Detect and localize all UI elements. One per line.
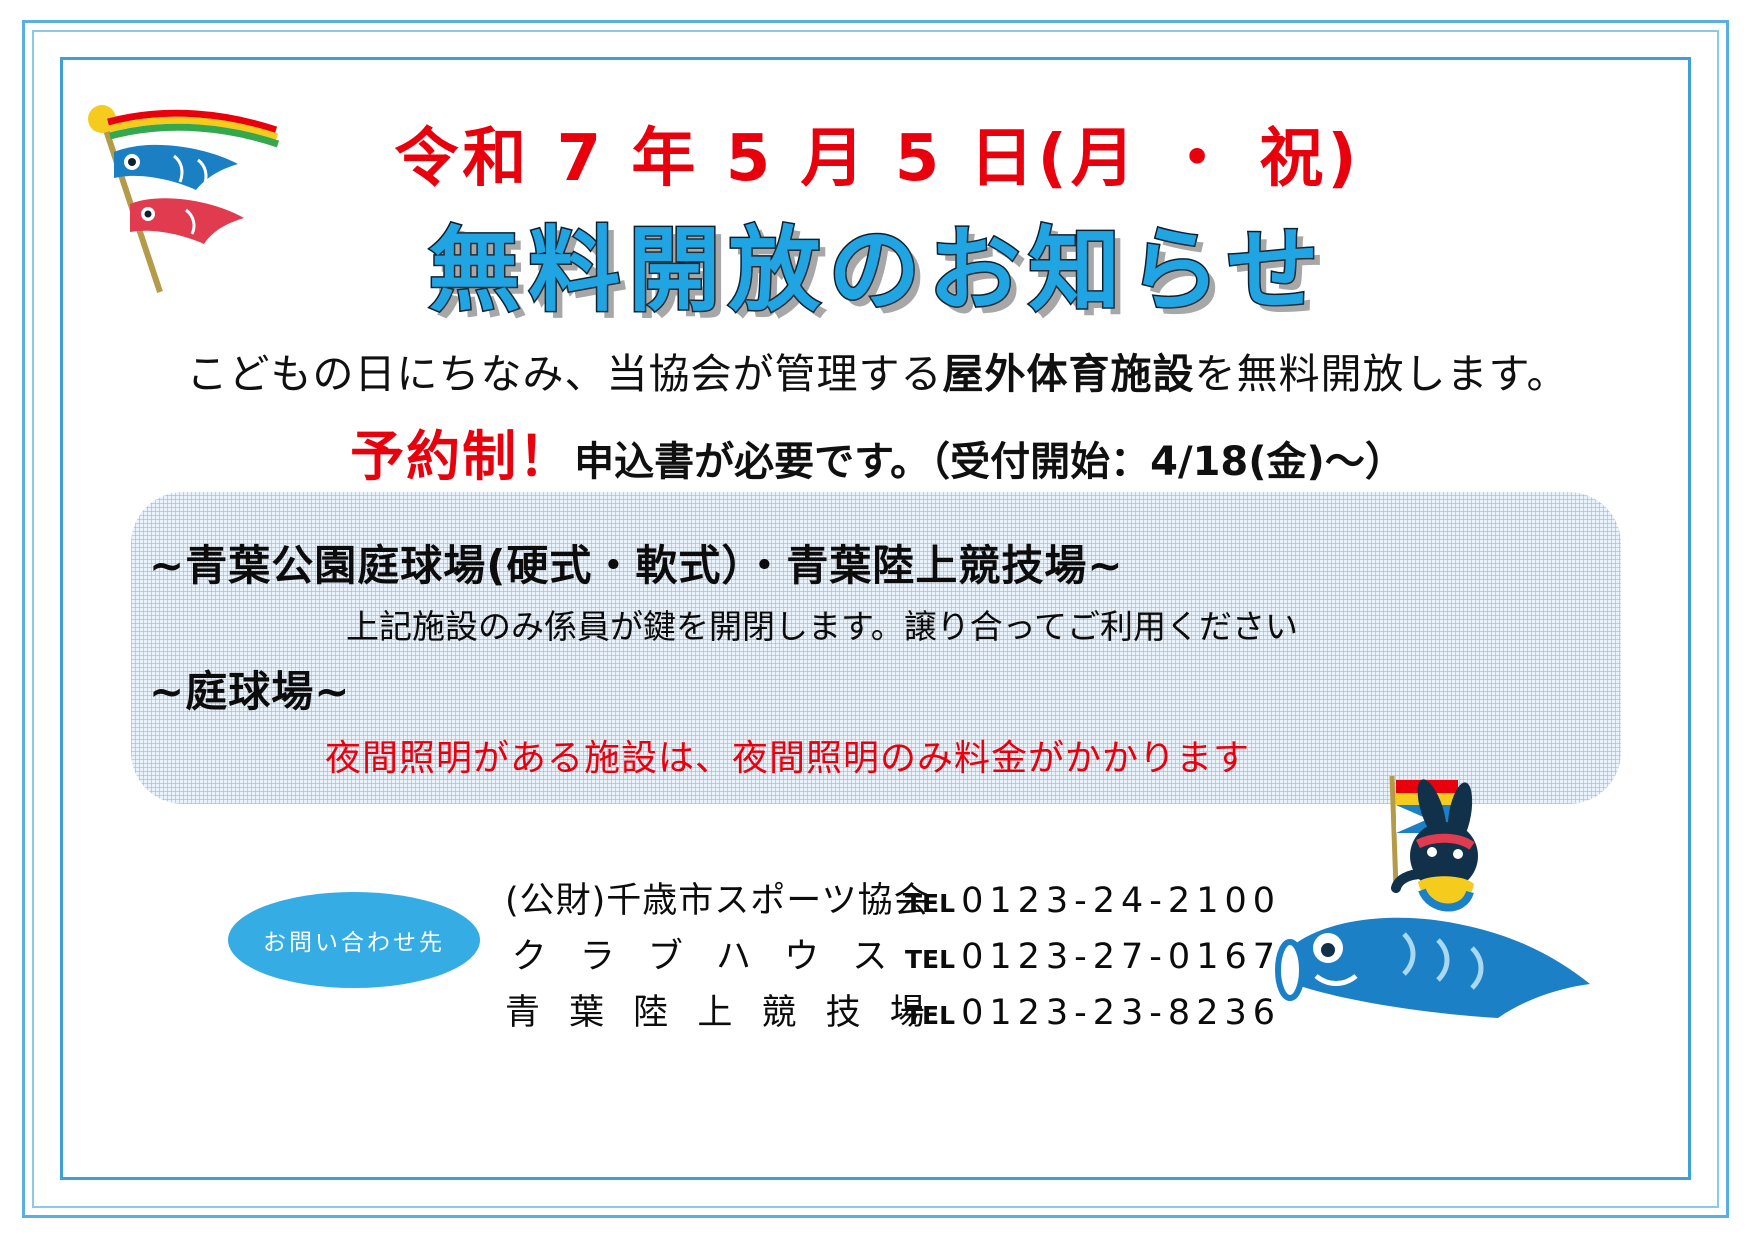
tel-icon: TEL bbox=[905, 889, 955, 918]
contact-phone-number: 0123-24-2100 bbox=[961, 881, 1281, 921]
contact-phone-number: 0123-27-0167 bbox=[961, 937, 1281, 977]
reservation-label: 予約制！ bbox=[350, 425, 574, 488]
intro-text: こどもの日にちなみ、当協会が管理する屋外体育施設を無料開放します。 bbox=[0, 340, 1755, 400]
contact-name: ク ラ ブ ハ ウ ス bbox=[505, 928, 905, 979]
tennis-court-heading: ~庭球場~ bbox=[149, 658, 350, 719]
contact-phone: TEL0123-24-2100 bbox=[905, 881, 1281, 921]
reservation-notice: 予約制！申込書が必要です。（受付開始：4/18(金)〜） bbox=[0, 412, 1755, 491]
inquiry-badge: お問い合わせ先 bbox=[228, 892, 480, 988]
page-title: 無料開放のお知らせ bbox=[0, 196, 1755, 329]
facility-note-line: 上記施設のみ係員が鍵を開閉します。譲り合ってご利用ください bbox=[346, 600, 1298, 648]
contact-row: ク ラ ブ ハ ウ ス TEL0123-27-0167 bbox=[505, 928, 1305, 984]
night-lighting-warning: 夜間照明がある施設は、夜間照明のみ料金がかかります bbox=[325, 729, 1250, 781]
facility-info-box: ~青葉公園庭球場(硬式・軟式）・青葉陸上競技場~ 上記施設のみ係員が鍵を開閉しま… bbox=[131, 492, 1621, 804]
inquiry-badge-label: お問い合わせ先 bbox=[263, 923, 445, 957]
contact-phone-number: 0123-23-8236 bbox=[961, 993, 1281, 1033]
poster-page: 令和 7 年 5 月 5 日(月 ・ 祝) 無料開放のお知らせ こどもの日にちな… bbox=[0, 0, 1755, 1241]
facility-list-line: ~青葉公園庭球場(硬式・軟式）・青葉陸上競技場~ bbox=[149, 532, 1124, 593]
contact-row: 青 葉 陸 上 競 技 場 TEL0123-23-8236 bbox=[505, 984, 1305, 1040]
intro-suffix: を無料開放します。 bbox=[1195, 350, 1569, 398]
koinobori-rabbit-icon bbox=[1272, 770, 1612, 1060]
contact-phone: TEL0123-27-0167 bbox=[905, 937, 1281, 977]
event-date: 令和 7 年 5 月 5 日(月 ・ 祝) bbox=[0, 107, 1755, 199]
intro-prefix: こどもの日にちなみ、当協会が管理する bbox=[187, 350, 943, 398]
contact-row: (公財)千歳市スポーツ協会 TEL0123-24-2100 bbox=[505, 872, 1305, 928]
reservation-detail: 申込書が必要です。（受付開始：4/18(金)〜） bbox=[574, 439, 1405, 485]
contact-phone: TEL0123-23-8236 bbox=[905, 993, 1281, 1033]
intro-highlight: 屋外体育施設 bbox=[943, 350, 1195, 398]
contact-list: (公財)千歳市スポーツ協会 TEL0123-24-2100 ク ラ ブ ハ ウ … bbox=[505, 872, 1305, 1040]
tel-icon: TEL bbox=[905, 1001, 955, 1030]
tel-icon: TEL bbox=[905, 945, 955, 974]
contact-name: 青 葉 陸 上 競 技 場 bbox=[505, 984, 905, 1035]
contact-name: (公財)千歳市スポーツ協会 bbox=[505, 872, 905, 923]
